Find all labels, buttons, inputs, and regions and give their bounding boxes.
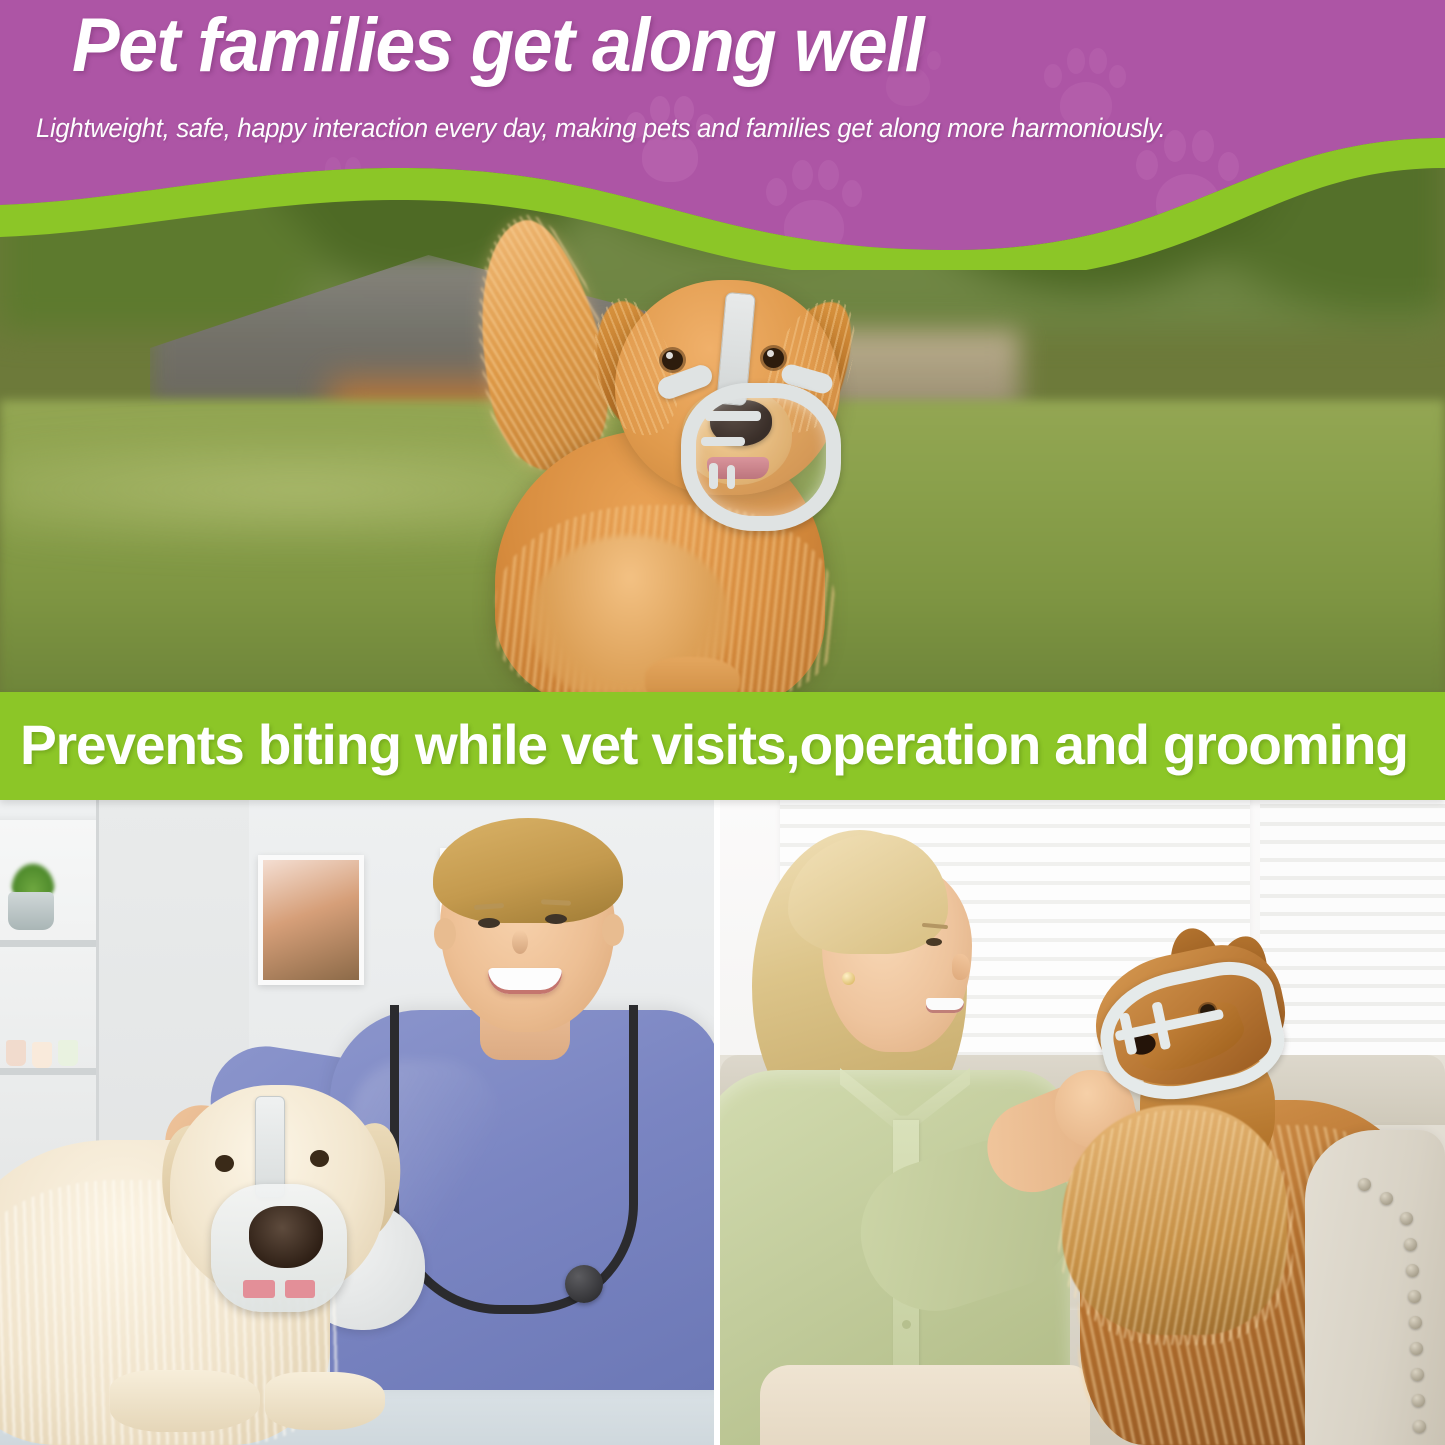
muzzle-bar-4 — [727, 465, 735, 489]
woman-eye — [926, 938, 942, 946]
muzzle-nose-opening — [249, 1206, 323, 1268]
vet-nose — [512, 930, 528, 954]
woman-nose — [952, 954, 970, 980]
vet-eye-right — [545, 914, 567, 924]
clinic-plant-pot — [8, 892, 54, 930]
gallery-photo-right-home — [720, 800, 1445, 1445]
vet-smile — [488, 968, 562, 994]
muzzle-bar-1 — [705, 411, 761, 421]
sofa-nailhead-stud — [1400, 1212, 1413, 1225]
stethoscope-bell — [565, 1265, 603, 1303]
mid-banner: Prevents biting while vet visits,operati… — [0, 692, 1445, 800]
woman-earring — [842, 972, 855, 985]
sofa-nailhead-stud — [1380, 1192, 1393, 1205]
clinic-dog-paw — [265, 1372, 385, 1430]
muzzle-product-hero — [665, 325, 825, 505]
muzzle-bar-3 — [709, 463, 718, 489]
bottom-gallery — [0, 800, 1445, 1445]
sofa-nailhead-stud — [1410, 1342, 1423, 1355]
muzzle-bar-2 — [701, 437, 745, 446]
sofa-nailhead-stud — [1358, 1178, 1371, 1191]
muzzle-basket — [681, 383, 841, 531]
sofa-nailhead-stud — [1408, 1290, 1421, 1303]
clinic-dog-paw — [110, 1370, 260, 1432]
sofa-nailhead-stud — [1409, 1316, 1422, 1329]
sheltie-mane-fur — [1058, 1110, 1293, 1345]
sofa-nailhead-stud — [1413, 1420, 1426, 1433]
vet-eye-left — [478, 918, 500, 928]
gallery-photo-left-vet — [0, 800, 714, 1445]
page-title: Pet families get along well — [72, 8, 923, 84]
blouse-button — [902, 1320, 911, 1329]
sofa-nailhead-stud — [1406, 1264, 1419, 1277]
muzzle-product-home — [1089, 957, 1270, 1108]
muzzle-head-strap — [255, 1096, 285, 1198]
sofa-nailhead-stud — [1411, 1368, 1424, 1381]
vet-ear-right — [602, 914, 624, 946]
vet-hair — [433, 818, 623, 923]
hero-dog-golden-retriever — [470, 205, 900, 700]
muzzle-vent-window — [243, 1280, 275, 1298]
muzzle-vent-window — [285, 1280, 315, 1298]
muzzle-cup — [211, 1184, 347, 1312]
page-subtitle: Lightweight, safe, happy interaction eve… — [36, 112, 1165, 144]
sofa-nailhead-stud — [1412, 1394, 1425, 1407]
muzzle-product-clinic — [203, 1122, 353, 1312]
sofa-nailhead-stud — [1404, 1238, 1417, 1251]
product-marketing-banner: Pet families get along well Lightweight,… — [0, 0, 1445, 1445]
clinic-dog-golden-retriever — [10, 1050, 470, 1445]
woman-smile — [926, 998, 964, 1013]
mid-banner-text: Prevents biting while vet visits,operati… — [20, 716, 1409, 775]
vet-ear-left — [434, 918, 456, 950]
